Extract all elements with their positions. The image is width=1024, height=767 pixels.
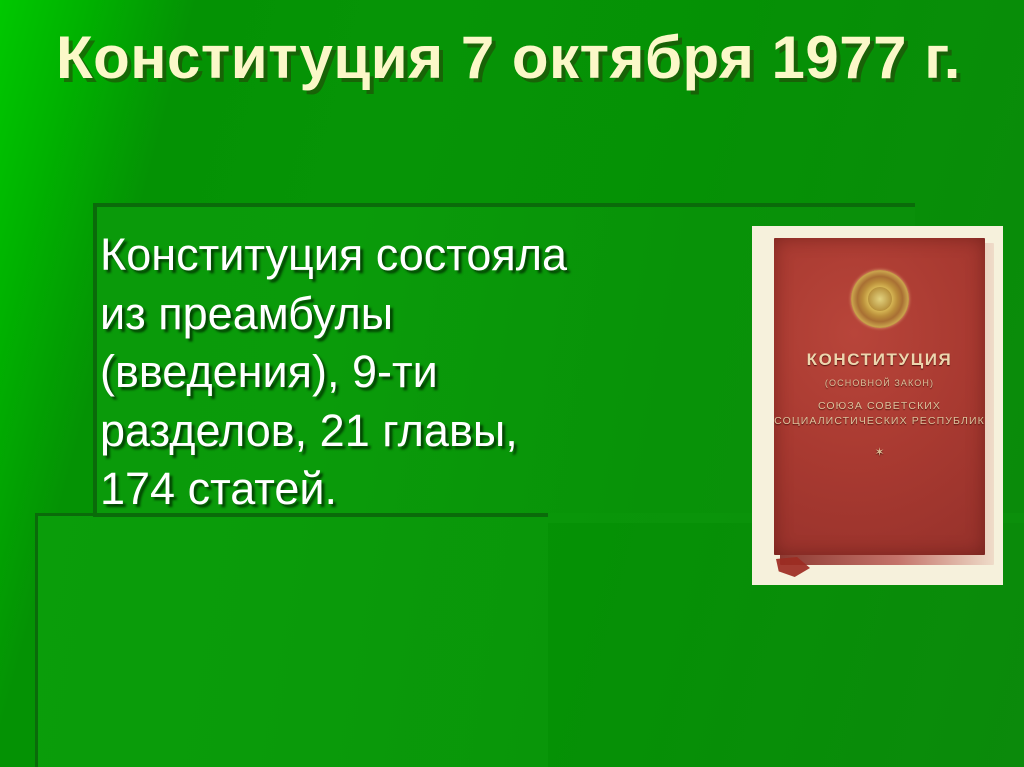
book-body: КОНСТИТУЦИЯ (ОСНОВНОЙ ЗАКОН) СОЮЗА СОВЕТ… bbox=[774, 238, 989, 559]
body-line-3: (введения), 9-ти bbox=[100, 343, 720, 402]
book-cover-subtitle-law: (ОСНОВНОЙ ЗАКОН) bbox=[774, 378, 985, 388]
body-line-2: из преамбулы bbox=[100, 285, 720, 344]
book-cover-ornament-icon: ✶ bbox=[774, 445, 985, 459]
ussr-state-emblem-icon bbox=[851, 270, 909, 328]
constitution-book-photo: КОНСТИТУЦИЯ (ОСНОВНОЙ ЗАКОН) СОЮЗА СОВЕТ… bbox=[752, 226, 1003, 585]
emblem-center bbox=[868, 287, 892, 311]
body-line-4: разделов, 21 главы, bbox=[100, 402, 720, 461]
decorative-panel-lower-left bbox=[35, 513, 548, 767]
body-line-5: 174 статей. bbox=[100, 460, 720, 519]
presentation-slide: Конституция 7 октября 1977 г. Конституци… bbox=[0, 0, 1024, 767]
book-cover-text: КОНСТИТУЦИЯ (ОСНОВНОЙ ЗАКОН) СОЮЗА СОВЕТ… bbox=[774, 350, 985, 459]
book-front-cover: КОНСТИТУЦИЯ (ОСНОВНОЙ ЗАКОН) СОЮЗА СОВЕТ… bbox=[774, 238, 985, 555]
book-cover-title: КОНСТИТУЦИЯ bbox=[774, 350, 985, 370]
slide-title: Конституция 7 октября 1977 г. bbox=[56, 24, 996, 91]
slide-body-text: Конституция состояла из преамбулы (введе… bbox=[100, 226, 720, 519]
body-line-1: Конституция состояла bbox=[100, 226, 720, 285]
book-cover-subtitle-union: СОЮЗА СОВЕТСКИХ СОЦИАЛИСТИЧЕСКИХ РЕСПУБЛ… bbox=[774, 399, 985, 429]
